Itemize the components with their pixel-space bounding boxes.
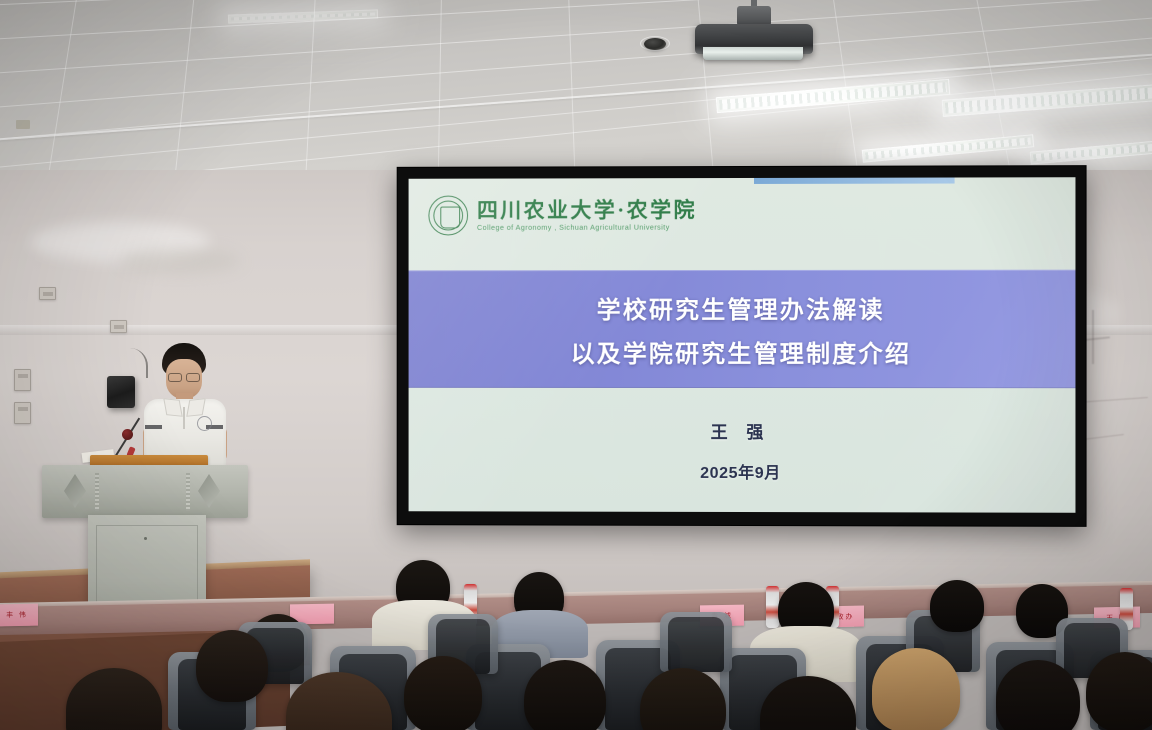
university-logo: 四川农业大学·农学院 College of Agronomy , Sichuan… (428, 195, 697, 235)
audience-head (524, 660, 606, 730)
ceiling (0, 0, 1152, 178)
audience-head (872, 648, 960, 730)
lectern-diamond-ornament (64, 474, 86, 508)
smoke-detector-icon (644, 38, 666, 50)
wall-marking (1092, 310, 1094, 364)
slide-presenter-name: 王 强 (711, 418, 771, 443)
ceiling-vent (16, 120, 30, 129)
slide-title-band: 学校研究生管理办法解读 以及学院研究生管理制度介绍 (409, 270, 1076, 389)
presenter-collar-right (186, 398, 205, 417)
lectern-ridge (186, 473, 190, 511)
audience-head (930, 580, 984, 632)
wall-outlet (14, 369, 31, 391)
water-bottle (766, 586, 779, 628)
logo-institution-en: College of Agronomy , Sichuan Agricultur… (477, 222, 697, 232)
audience-head (1086, 652, 1152, 730)
lectern-ridge (95, 473, 99, 511)
audience-head (404, 656, 482, 730)
wall-outlet (39, 287, 56, 300)
slide-presenter-date: 2025年9月 (700, 459, 781, 483)
wall-outlet (14, 402, 31, 424)
logo-institution-cn: 四川农业大学·农学院 (477, 199, 697, 221)
university-seal-icon (428, 196, 468, 236)
lectern-screw (144, 537, 147, 540)
lectern-panel-inset (96, 525, 198, 607)
wall-stain (120, 248, 240, 274)
slide-presenter-block: 王 强 2025年9月 (409, 418, 1076, 484)
name-card: 丰 伟 (0, 604, 38, 627)
logo-text-group: 四川农业大学·农学院 College of Agronomy , Sichuan… (477, 199, 697, 231)
glasses-icon (168, 373, 200, 381)
projector-mount (737, 6, 771, 26)
wall-outlet (110, 320, 127, 333)
presentation-slide: 四川农业大学·农学院 College of Agronomy , Sichuan… (409, 177, 1076, 513)
microphone-head-icon (122, 429, 133, 440)
presenter-collar-left (163, 398, 182, 417)
shirt-emblem-icon (197, 416, 212, 431)
projector-lens (703, 47, 803, 60)
slide-title-line-2: 以及学院研究生管理制度介绍 (571, 333, 912, 368)
slide-top-accent-bar (754, 178, 955, 184)
lecture-hall-scene: 四川农业大学·农学院 College of Agronomy , Sichuan… (0, 0, 1152, 730)
presenter-shirt-placket (183, 407, 185, 429)
wall-speaker (107, 376, 135, 408)
ceiling-projector (695, 14, 813, 62)
audience-head (196, 630, 268, 702)
lectern-diamond-ornament (198, 474, 220, 508)
projection-screen: 四川农业大学·农学院 College of Agronomy , Sichuan… (398, 166, 1086, 526)
auditorium-chair (660, 612, 732, 672)
lectern-wings (42, 465, 248, 518)
slide-title-line-1: 学校研究生管理办法解读 (597, 289, 885, 324)
